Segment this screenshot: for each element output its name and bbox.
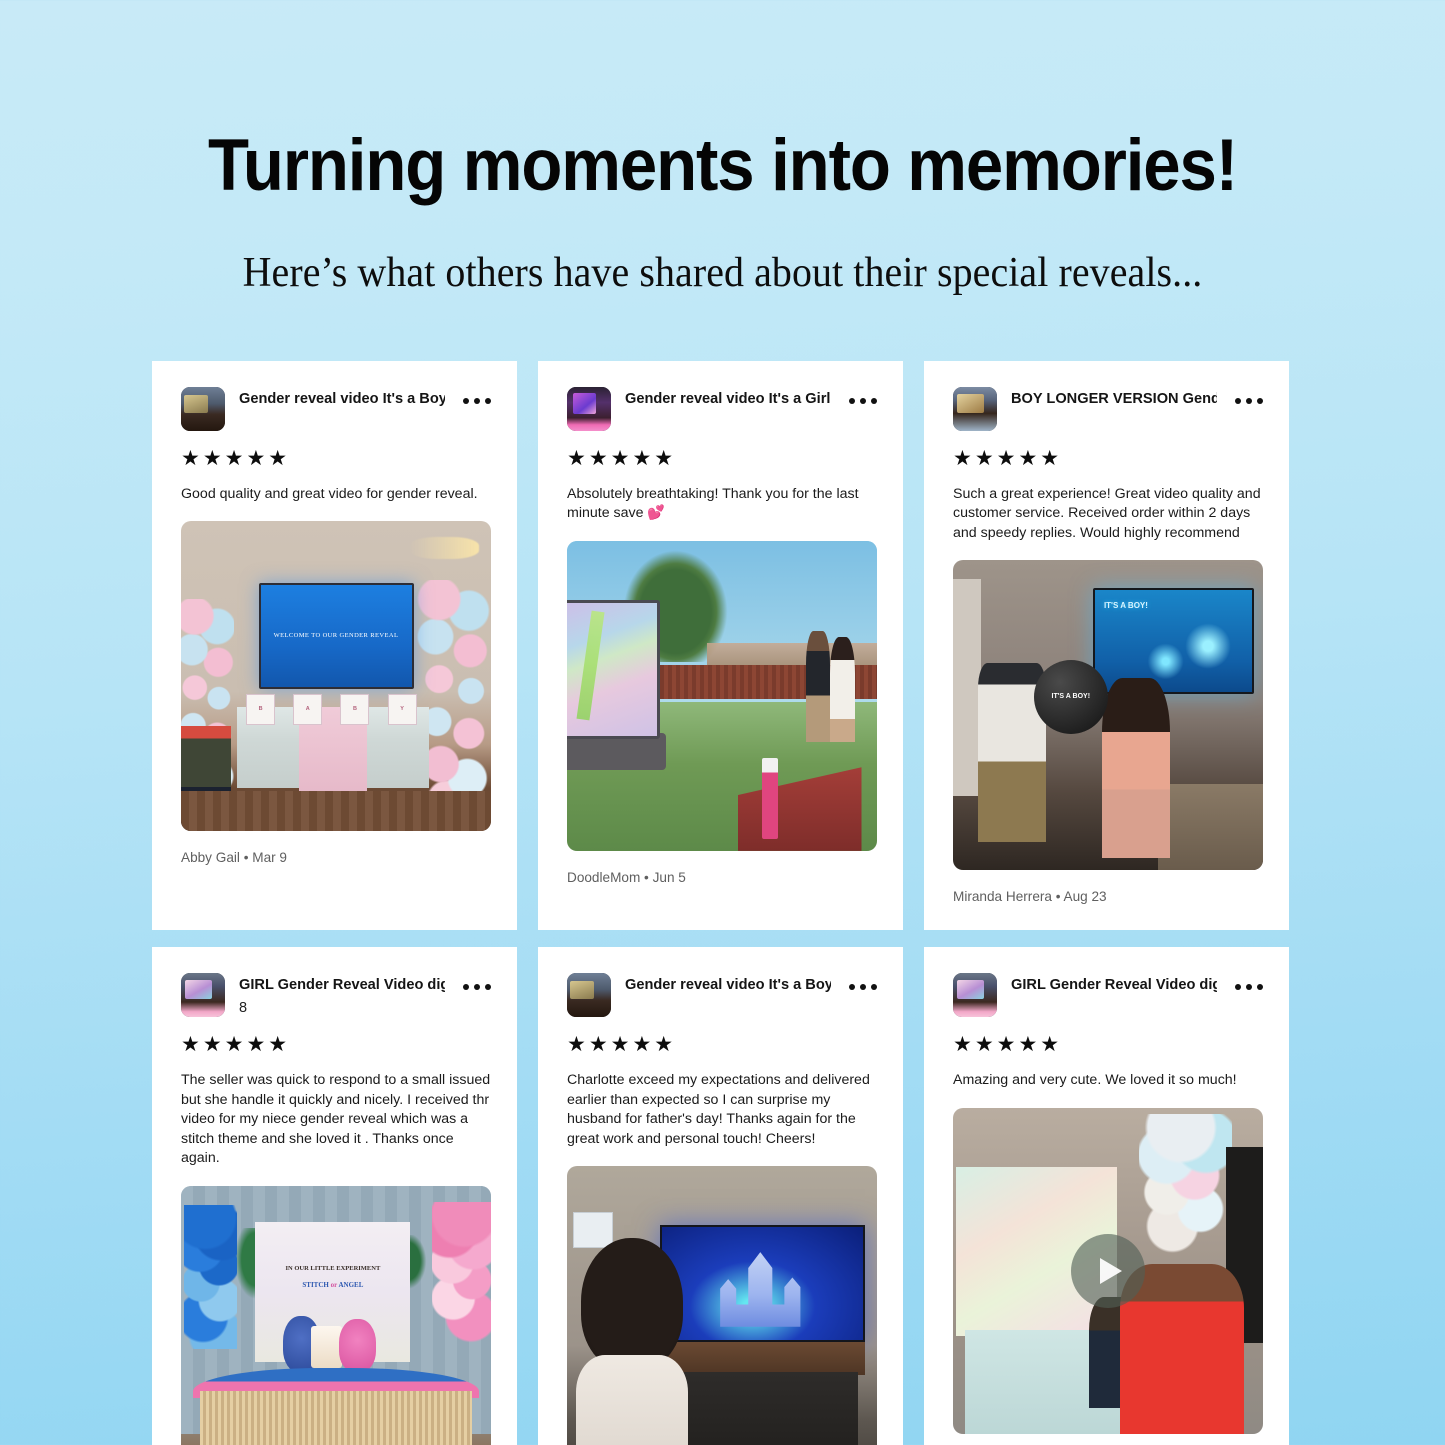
review-text: Charlotte exceed my expectations and del… xyxy=(567,1071,877,1149)
rating-stars: ★★★★★ xyxy=(953,448,1263,469)
review-video[interactable] xyxy=(953,1108,1263,1434)
product-info: Gender reveal video It's a Boy! Vide... xyxy=(239,387,445,408)
review-meta: Miranda Herrera • Aug 23 xyxy=(953,889,1263,904)
couple xyxy=(806,631,856,743)
photo-scene-stitch-theme: IN OUR LITTLE EXPERIMENT STITCH or ANGEL xyxy=(181,1186,491,1445)
tv-caption: IT'S A BOY! xyxy=(1104,602,1148,610)
product-thumbnail[interactable] xyxy=(181,387,225,431)
angel-figure-pink xyxy=(339,1319,376,1371)
product-thumbnail[interactable] xyxy=(567,387,611,431)
cabinet xyxy=(1158,784,1263,871)
review-text: Such a great experience! Great video qua… xyxy=(953,485,1263,543)
product-title[interactable]: Gender reveal video It's a Girl! Vide... xyxy=(625,390,831,408)
projector-screen xyxy=(567,600,660,740)
rating-stars: ★★★★★ xyxy=(181,448,491,469)
tv-stand xyxy=(660,1342,865,1375)
tv-screen: IT'S A BOY! xyxy=(1093,588,1254,693)
thumbnail-image xyxy=(953,973,997,1017)
review-card-6[interactable]: GIRL Gender Reveal Video digital ... ★★★… xyxy=(924,947,1289,1445)
block-letter: Y xyxy=(388,694,417,725)
product-title[interactable]: BOY LONGER VERSION Gender ... xyxy=(1011,390,1217,408)
child xyxy=(576,1238,688,1445)
review-header: GIRL Gender Reveal Video digital ... xyxy=(953,973,1263,1017)
product-title[interactable]: GIRL Gender Reveal Video digital ... xyxy=(1011,976,1217,994)
balloon-column xyxy=(1139,1114,1232,1284)
reviews-grid: Gender reveal video It's a Boy! Vide... … xyxy=(152,361,1297,1445)
rating-stars: ★★★★★ xyxy=(953,1034,1263,1055)
three-dots-icon[interactable] xyxy=(463,973,491,990)
review-photo[interactable] xyxy=(567,541,877,851)
product-title[interactable]: Gender reveal video It's a Boy! Vide... xyxy=(239,390,445,408)
confetti-cannon xyxy=(762,758,778,839)
three-dots-icon[interactable] xyxy=(1235,973,1263,990)
page-header: Turning moments into memories! Here’s wh… xyxy=(0,0,1445,297)
thumbnail-image xyxy=(181,387,225,431)
product-info: Gender reveal video It's a Girl! Vide... xyxy=(625,387,831,408)
product-variant: 8 xyxy=(239,1000,445,1016)
product-thumbnail[interactable] xyxy=(567,973,611,1017)
review-meta: DoodleMom • Jun 5 xyxy=(567,870,877,885)
product-info: Gender reveal video It's a Boy! Vide... xyxy=(625,973,831,994)
balloon-arch-blue xyxy=(184,1205,237,1349)
balloon-arch-pink xyxy=(432,1202,491,1352)
rating-stars: ★★★★★ xyxy=(181,1034,491,1055)
cake xyxy=(311,1326,342,1368)
thumbnail-image xyxy=(567,973,611,1017)
product-info: GIRL Gender Reveal Video digital ... xyxy=(1011,973,1217,994)
review-header: Gender reveal video It's a Boy! Vide... xyxy=(567,973,877,1017)
review-text: Good quality and great video for gender … xyxy=(181,485,491,504)
rating-stars: ★★★★★ xyxy=(567,1034,877,1055)
grass-skirt xyxy=(200,1391,473,1445)
projection-band xyxy=(577,610,605,720)
castle-graphic xyxy=(710,1247,810,1326)
block-letter: B xyxy=(246,694,275,725)
thumbnail-image xyxy=(953,387,997,431)
product-info: BOY LONGER VERSION Gender ... xyxy=(1011,387,1217,408)
review-text: The seller was quick to respond to a sma… xyxy=(181,1071,491,1168)
review-card-3[interactable]: BOY LONGER VERSION Gender ... ★★★★★ Such… xyxy=(924,361,1289,930)
page-title: Turning moments into memories! xyxy=(58,128,1387,205)
lawn-chair xyxy=(738,758,862,851)
media-shelf xyxy=(672,1372,858,1445)
block-letter: A xyxy=(293,694,322,725)
review-header: Gender reveal video It's a Boy! Vide... xyxy=(181,387,491,431)
product-thumbnail[interactable] xyxy=(953,387,997,431)
doorway xyxy=(953,579,981,796)
three-dots-icon[interactable] xyxy=(849,387,877,404)
review-header: BOY LONGER VERSION Gender ... xyxy=(953,387,1263,431)
tv-screen: WELCOME TO OUR GENDER REVEAL xyxy=(259,583,414,688)
banner-option-left: STITCH xyxy=(302,1281,328,1289)
review-header: GIRL Gender Reveal Video digital ... 8 xyxy=(181,973,491,1017)
review-text: Absolutely breathtaking! Thank you for t… xyxy=(567,485,877,524)
review-card-5[interactable]: Gender reveal video It's a Boy! Vide... … xyxy=(538,947,903,1445)
neon-sign xyxy=(410,537,478,559)
woman xyxy=(1102,678,1170,858)
review-card-4[interactable]: GIRL Gender Reveal Video digital ... 8 ★… xyxy=(152,947,517,1445)
thumbnail-image xyxy=(181,973,225,1017)
three-dots-icon[interactable] xyxy=(463,387,491,404)
thumbnail-image xyxy=(567,387,611,431)
review-photo[interactable]: IN OUR LITTLE EXPERIMENT STITCH or ANGEL xyxy=(181,1186,491,1445)
review-meta: Abby Gail • Mar 9 xyxy=(181,850,491,865)
review-text: Amazing and very cute. We loved it so mu… xyxy=(953,1071,1263,1090)
three-dots-icon[interactable] xyxy=(1235,387,1263,404)
review-photo[interactable] xyxy=(567,1166,877,1445)
photo-scene-boy-balloon: IT'S A BOY! IT'S A BOY! xyxy=(953,560,1263,870)
banner-line-2: STITCH or ANGEL xyxy=(302,1281,363,1289)
tv-screen xyxy=(660,1225,865,1342)
product-title[interactable]: Gender reveal video It's a Boy! Vide... xyxy=(625,976,831,994)
tv-caption: WELCOME TO OUR GENDER REVEAL xyxy=(274,631,399,641)
product-info: GIRL Gender Reveal Video digital ... 8 xyxy=(239,973,445,1015)
wood-floor xyxy=(181,791,491,831)
rating-stars: ★★★★★ xyxy=(567,448,877,469)
banner-line-1: IN OUR LITTLE EXPERIMENT xyxy=(285,1265,380,1274)
review-card-2[interactable]: Gender reveal video It's a Girl! Vide...… xyxy=(538,361,903,930)
banner-or: or xyxy=(331,1281,337,1289)
product-title[interactable]: GIRL Gender Reveal Video digital ... xyxy=(239,976,445,994)
baby-letter-blocks: B A B Y xyxy=(246,694,417,725)
play-icon[interactable] xyxy=(1071,1234,1145,1308)
review-photo[interactable]: IT'S A BOY! IT'S A BOY! xyxy=(953,560,1263,870)
review-card-1[interactable]: Gender reveal video It's a Boy! Vide... … xyxy=(152,361,517,930)
reveal-balloon: IT'S A BOY! xyxy=(1034,660,1108,734)
photo-scene-backyard-projector xyxy=(567,541,877,851)
photo-scene-child-watching-tv xyxy=(567,1166,877,1445)
product-thumbnail[interactable] xyxy=(181,973,225,1017)
review-photo[interactable]: WELCOME TO OUR GENDER REVEAL B A B Y xyxy=(181,521,491,831)
product-thumbnail[interactable] xyxy=(953,973,997,1017)
banner-option-right: ANGEL xyxy=(338,1281,363,1289)
block-letter: B xyxy=(340,694,369,725)
three-dots-icon[interactable] xyxy=(849,973,877,990)
review-header: Gender reveal video It's a Girl! Vide... xyxy=(567,387,877,431)
play-triangle-icon xyxy=(1100,1258,1122,1284)
photo-scene-gender-reveal-room: WELCOME TO OUR GENDER REVEAL B A B Y xyxy=(181,521,491,831)
reviews-page: Turning moments into memories! Here’s wh… xyxy=(0,0,1445,1445)
page-subtitle: Here’s what others have shared about the… xyxy=(36,249,1409,297)
balloon-text: IT'S A BOY! xyxy=(1052,693,1090,700)
